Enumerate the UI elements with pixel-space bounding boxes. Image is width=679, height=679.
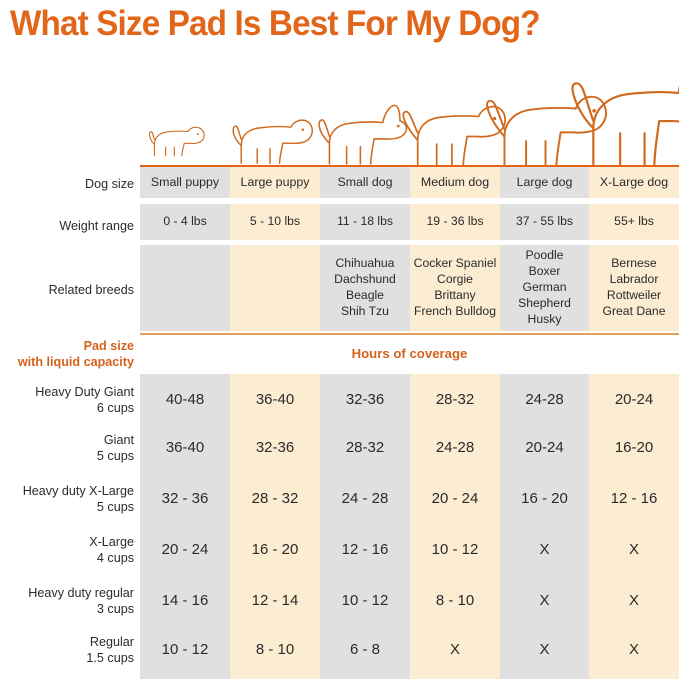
pad-row-label-6: Regular 1.5 cups xyxy=(86,634,134,666)
pad-cell-5-2: 12 - 14 xyxy=(230,582,320,619)
pad-cell-5-5: X xyxy=(500,582,589,619)
pad-cell-3-2: 28 - 32 xyxy=(230,480,320,517)
pad-cell-1-5: 24-28 xyxy=(500,381,589,418)
dog-silhouette-xlarge-dog xyxy=(572,78,679,167)
weight-cell-5: 37 - 55 lbs xyxy=(500,204,589,240)
row-label-pad-size: Pad size with liquid capacity xyxy=(18,338,134,370)
pad-cell-2-1: 36-40 xyxy=(140,429,230,466)
pad-cell-3-1: 32 - 36 xyxy=(140,480,230,517)
pad-cell-3-4: 20 - 24 xyxy=(410,480,500,517)
pad-cell-5-4: 8 - 10 xyxy=(410,582,500,619)
row-label-weight-range: Weight range xyxy=(59,218,134,234)
pad-row-label-5: Heavy duty regular 3 cups xyxy=(28,585,134,617)
pad-size-chart: What Size Pad Is Best For My Dog? xyxy=(0,0,679,679)
pad-cell-4-3: 12 - 16 xyxy=(320,531,410,568)
pad-cell-2-2: 32-36 xyxy=(230,429,320,466)
pad-cell-4-6: X xyxy=(589,531,679,568)
pad-cell-5-6: X xyxy=(589,582,679,619)
breeds-cell-6: Bernese Labrador Rottweiler Great Dane xyxy=(589,245,679,331)
pad-cell-6-1: 10 - 12 xyxy=(140,631,230,668)
weight-cell-4: 19 - 36 lbs xyxy=(410,204,500,240)
dog-silhouette-small-puppy xyxy=(150,127,205,156)
dog-size-cell-2: Large puppy xyxy=(230,167,320,198)
breeds-cell-3: Chihuahua Dachshund Beagle Shih Tzu xyxy=(320,245,410,331)
pad-cell-6-6: X xyxy=(589,631,679,668)
pad-cell-1-1: 40-48 xyxy=(140,381,230,418)
dog-silhouette-row xyxy=(0,78,679,168)
pad-cell-3-3: 24 - 28 xyxy=(320,480,410,517)
pad-cell-1-2: 36-40 xyxy=(230,381,320,418)
dog-size-cell-5: Large dog xyxy=(500,167,589,198)
pad-cell-3-6: 12 - 16 xyxy=(589,480,679,517)
dog-size-cell-4: Medium dog xyxy=(410,167,500,198)
pad-cell-2-3: 28-32 xyxy=(320,429,410,466)
breeds-cell-1 xyxy=(140,245,230,331)
dog-silhouette-small-dog xyxy=(319,105,406,163)
pad-cell-4-2: 16 - 20 xyxy=(230,531,320,568)
dog-size-cell-3: Small dog xyxy=(320,167,410,198)
weight-cell-1: 0 - 4 lbs xyxy=(140,204,230,240)
pad-cell-1-4: 28-32 xyxy=(410,381,500,418)
pad-cell-2-4: 24-28 xyxy=(410,429,500,466)
weight-cell-2: 5 - 10 lbs xyxy=(230,204,320,240)
pad-cell-4-5: X xyxy=(500,531,589,568)
pad-row-label-4: X-Large 4 cups xyxy=(89,534,134,566)
pad-row-label-1: Heavy Duty Giant 6 cups xyxy=(35,384,134,416)
row-label-related-breeds: Related breeds xyxy=(49,282,134,298)
pad-cell-6-4: X xyxy=(410,631,500,668)
pad-cell-5-1: 14 - 16 xyxy=(140,582,230,619)
pad-row-label-2: Giant 5 cups xyxy=(97,432,134,464)
weight-cell-3: 11 - 18 lbs xyxy=(320,204,410,240)
pad-cell-4-1: 20 - 24 xyxy=(140,531,230,568)
section-divider xyxy=(140,333,679,335)
pad-cell-6-3: 6 - 8 xyxy=(320,631,410,668)
pad-cell-4-4: 10 - 12 xyxy=(410,531,500,568)
page-title: What Size Pad Is Best For My Dog? xyxy=(10,4,637,44)
pad-cell-1-6: 20-24 xyxy=(589,381,679,418)
dog-size-cell-1: Small puppy xyxy=(140,167,230,198)
pad-cell-6-2: 8 - 10 xyxy=(230,631,320,668)
dog-size-cell-6: X-Large dog xyxy=(589,167,679,198)
row-label-dog-size: Dog size xyxy=(85,176,134,192)
pad-cell-2-5: 20-24 xyxy=(500,429,589,466)
pad-cell-5-3: 10 - 12 xyxy=(320,582,410,619)
pad-cell-3-5: 16 - 20 xyxy=(500,480,589,517)
weight-cell-6: 55+ lbs xyxy=(589,204,679,240)
breeds-cell-4: Cocker Spaniel Corgie Brittany French Bu… xyxy=(410,245,500,331)
breeds-cell-5: Poodle Boxer German Shepherd Husky xyxy=(500,245,589,331)
pad-cell-6-5: X xyxy=(500,631,589,668)
breeds-cell-2 xyxy=(230,245,320,331)
pad-row-label-3: Heavy duty X-Large 5 cups xyxy=(23,483,134,515)
dog-silhouette-large-puppy xyxy=(233,120,312,163)
hours-of-coverage-label: Hours of coverage xyxy=(140,346,679,361)
pad-cell-1-3: 32-36 xyxy=(320,381,410,418)
pad-cell-2-6: 16-20 xyxy=(589,429,679,466)
